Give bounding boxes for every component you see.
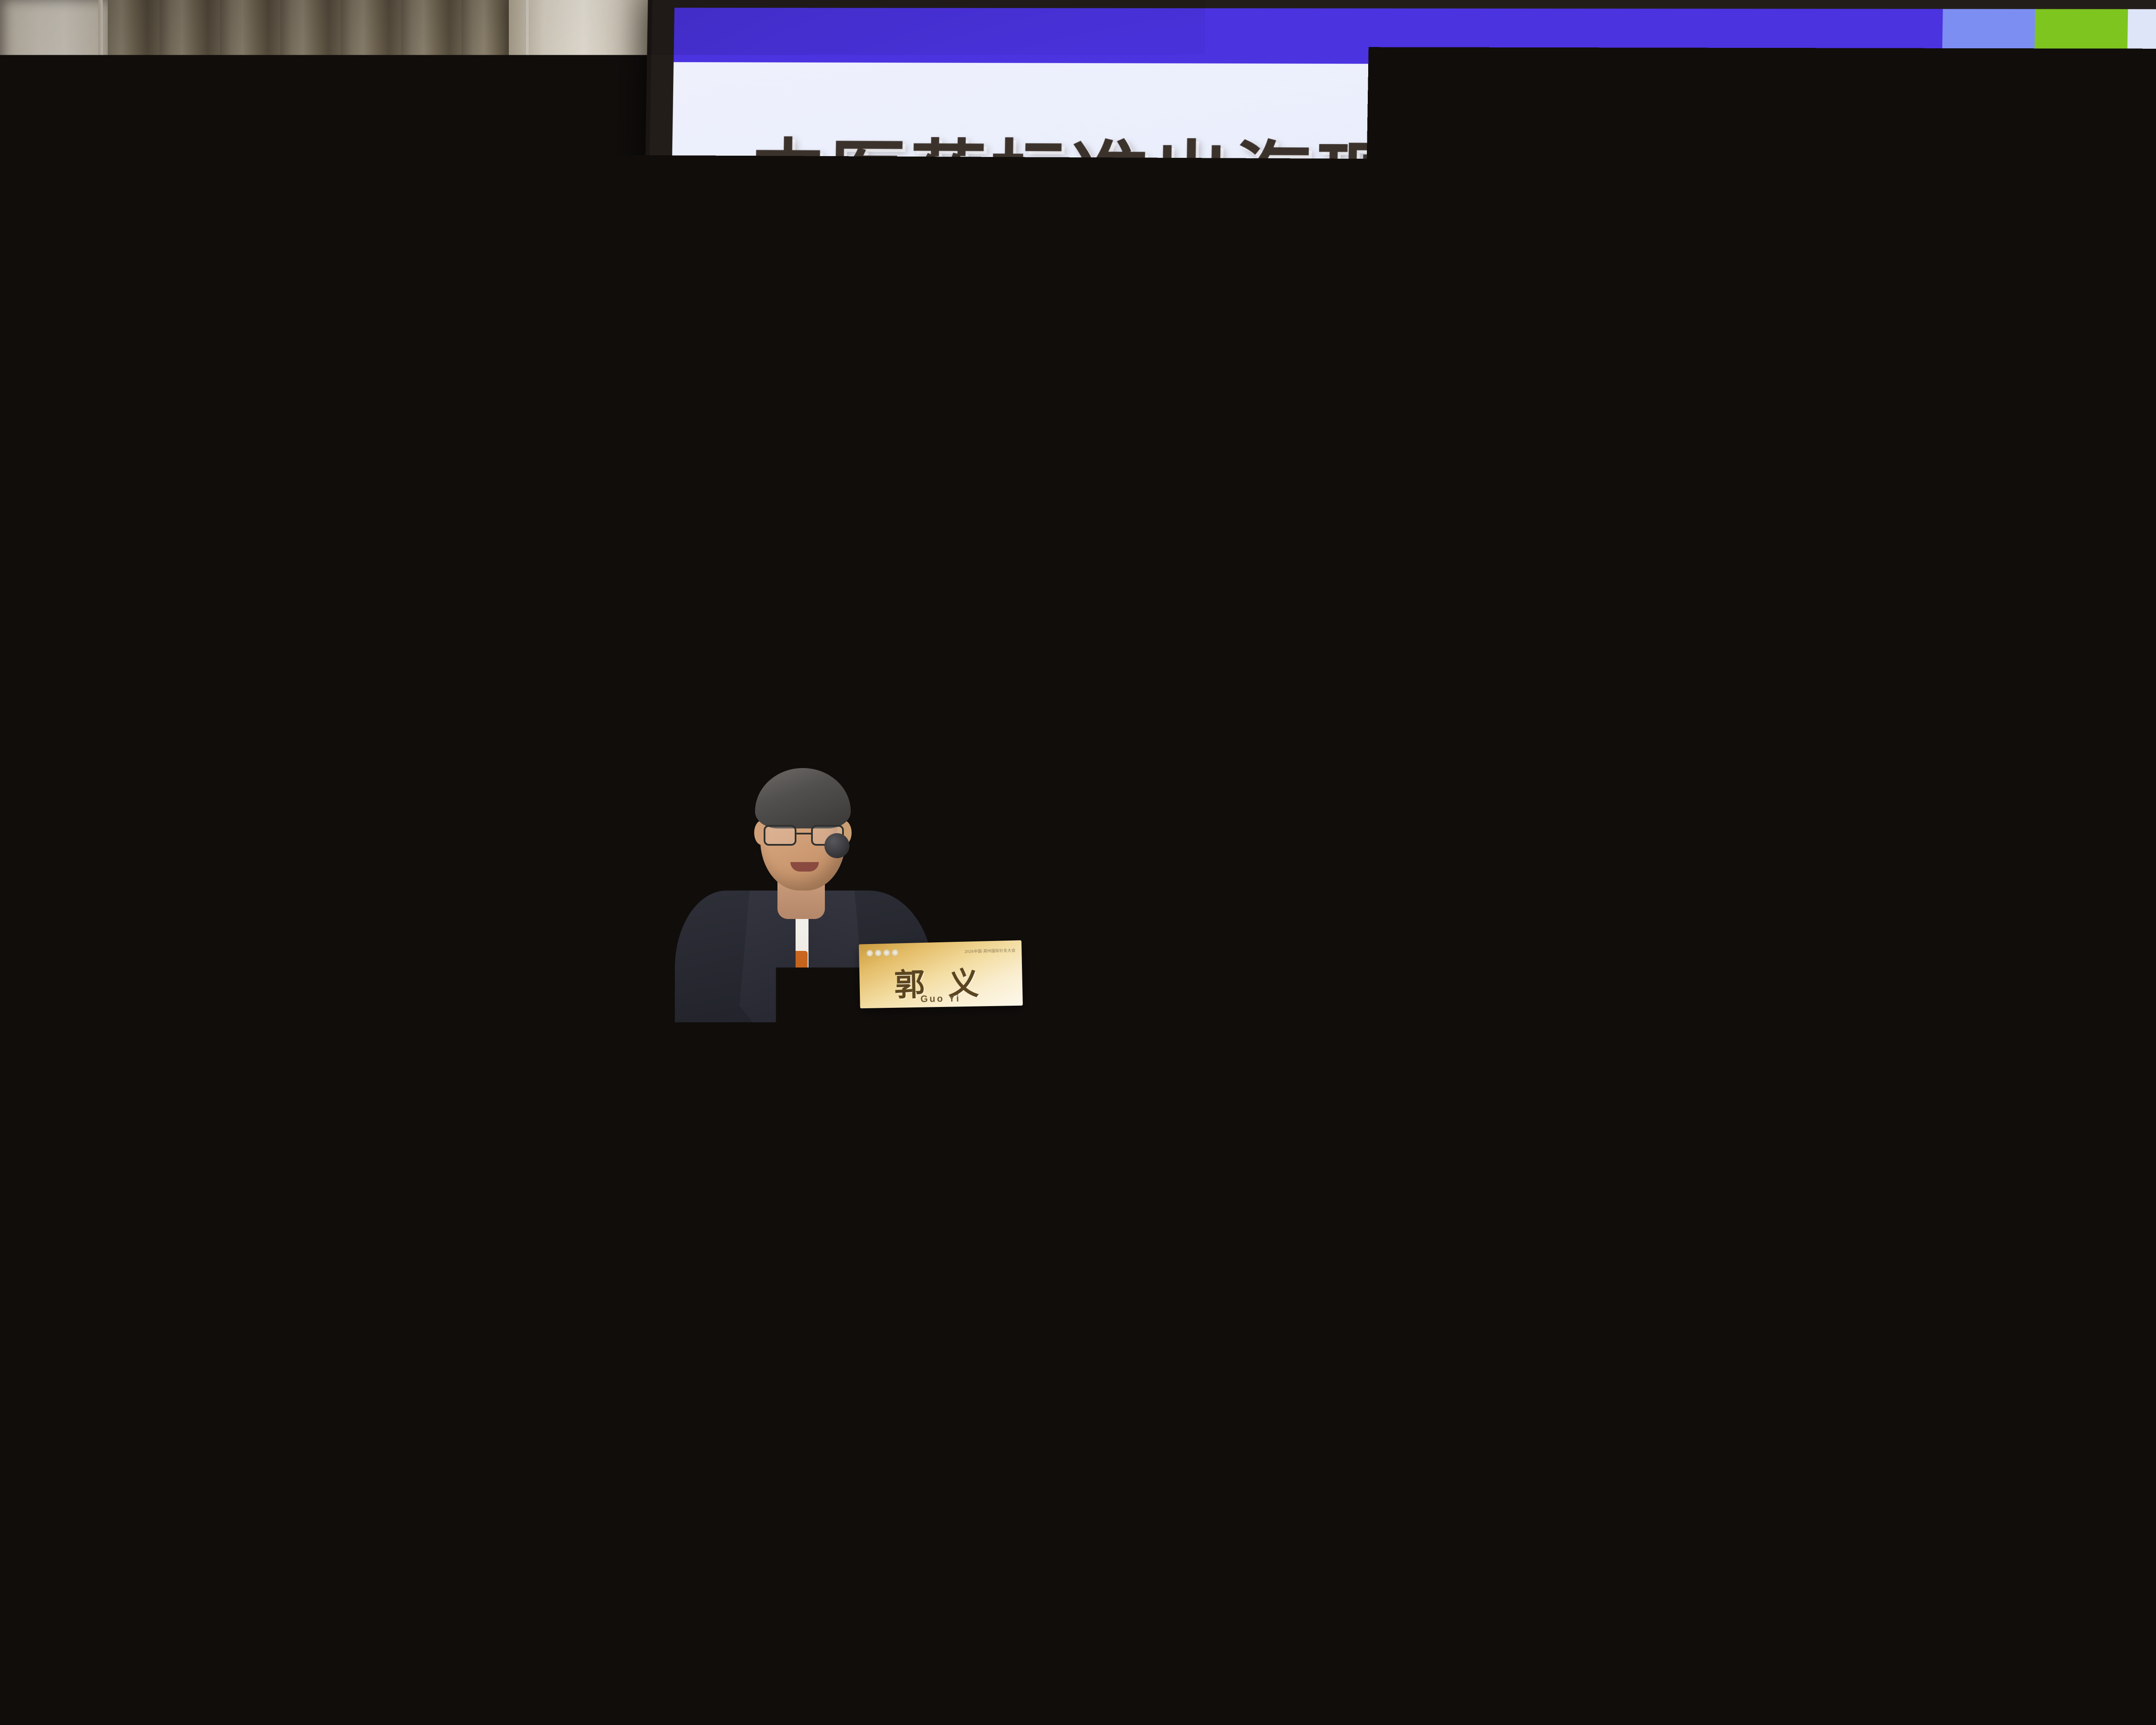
stage-curtain-left (99, 0, 535, 1203)
university-logo-en: Tianjin University of Traditional Chines… (2007, 109, 2156, 119)
banner-conference-cn: 2026中国·郑州国际针灸大会 (628, 1252, 1056, 1295)
slide-subtitle: 国家重点研发计划资助项目：面向“一带一路”国家的中成药及中医适宜技国际化示范研究 (768, 365, 2143, 415)
banner-mountain-graphic (599, 1622, 1079, 1725)
slide-divider-rule (734, 339, 2138, 358)
emblem-globe-icon (813, 1076, 849, 1112)
organizer-group: 承办单位 郑州市中医院（郑州中医针灸研究院） 河南中医药大学 河南省中医药科学院… (599, 1446, 1079, 1524)
slide-accent-block-lightblue (1942, 9, 2035, 66)
organizer-group: 主办单位 世界针灸学会联合会 中国针灸学会 郑州市中医院 (599, 1378, 1077, 1446)
microphone-capsule (824, 833, 849, 858)
lectern-corner-text: 2026中国·郑州国际针灸大会 (956, 1080, 1030, 1088)
emblem-taiji-icon (767, 1076, 803, 1112)
presenter-hair (755, 768, 851, 828)
slide-affiliations: 天津中医药大学 天津市中医药标准化研究所 天津中医药大学中医药标准化研究所 (664, 571, 2156, 719)
slide-header-band (674, 8, 2156, 66)
wall-panel-left (0, 0, 108, 1190)
nameplate-emblem-icons (867, 949, 899, 957)
conference-hall-scene: 天津中醫藥大學 Tianjin University of Traditiona… (0, 0, 2156, 1725)
nameplate-corner-text: 2026中国·郑州国际针灸大会 (965, 947, 1015, 954)
glasses-bridge (796, 833, 811, 834)
organizer-entries: 郑州市中医院（郑州中医针灸研究院） 河南中医药大学 河南省中医药科学院 河南省针… (599, 1464, 1079, 1525)
emblem-wfas-icon (675, 1076, 711, 1112)
banner-slogan: 针砭之道 联通寰宇 (626, 1177, 1055, 1252)
glasses-lens-left (764, 825, 796, 846)
organization-emblems (675, 1076, 849, 1112)
slide-accent-block-green (2034, 9, 2128, 66)
speaker-nameplate: 2026中国·郑州国际针灸大会 郭 义 Guo Yi (859, 940, 1023, 1008)
slide-title: 中医药标准出海现状、问题及对策 (749, 132, 2156, 229)
countdown-timer: 24:57 (1527, 25, 1708, 67)
lectern: 2026中国·郑州国际针灸大会 传承·创新·合作·共享 — 共筑人类健康共同体 … (587, 1003, 1095, 1725)
slide-accent-block-white (2127, 9, 2156, 66)
lectern-front-panel: 2026中国·郑州国际针灸大会 传承·创新·合作·共享 — 共筑人类健康共同体 … (599, 1026, 1083, 1725)
university-logo-cn: 天津中醫藥大學 (2007, 77, 2156, 105)
conference-banner: 传承·创新·合作·共享 — 共筑人类健康共同体 针砭之道 联通寰宇 2026中国… (600, 1148, 1083, 1335)
university-logo: 天津中醫藥大學 Tianjin University of Traditiona… (2007, 77, 2156, 119)
countdown-timer-value: 24:57 (1577, 30, 1657, 62)
emblem-caam-icon (721, 1076, 757, 1112)
slide-speaker-line: 主讲人：郭 義 (667, 477, 2156, 541)
organizer-credits: 主办单位 世界针灸学会联合会 中国针灸学会 郑州市中医院 承办单位 郑州市中医院… (599, 1378, 1083, 1653)
banner-tagline: 传承·创新·合作·共享 — 共筑人类健康共同体 (625, 1148, 1053, 1181)
